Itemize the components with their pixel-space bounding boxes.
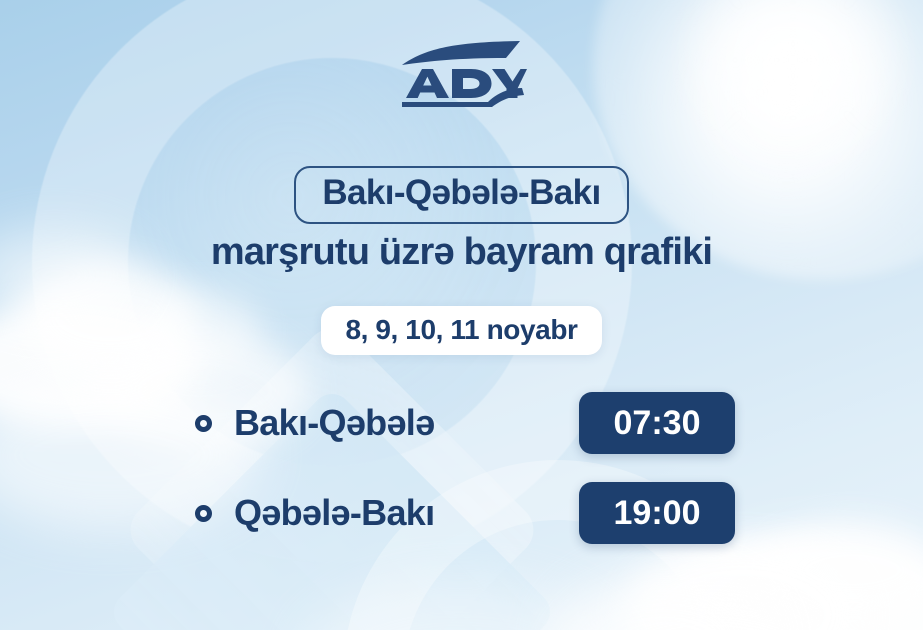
poster-content: Bakı-Qəbələ-Bakı marşrutu üzrə bayram qr… (0, 0, 923, 630)
page-subtitle: marşrutu üzrə bayram qrafiki (0, 231, 923, 274)
schedule-route-label: Bakı-Qəbələ (234, 402, 579, 444)
schedule-route-label: Qəbələ-Bakı (234, 492, 579, 534)
route-title-pill: Bakı-Qəbələ-Bakı (294, 166, 628, 224)
ady-logo (396, 36, 528, 112)
ring-bullet-icon (195, 415, 212, 432)
schedule-time-badge: 07:30 (579, 392, 735, 454)
schedule-time-badge: 19:00 (579, 482, 735, 544)
poster-canvas: Bakı-Qəbələ-Bakı marşrutu üzrə bayram qr… (0, 0, 923, 630)
dates-badge: 8, 9, 10, 11 noyabr (321, 306, 601, 355)
title-block: Bakı-Qəbələ-Bakı marşrutu üzrə bayram qr… (0, 166, 923, 273)
date-block: 8, 9, 10, 11 noyabr (0, 306, 923, 355)
schedule-list: Bakı-Qəbələ 07:30 Qəbələ-Bakı 19:00 (195, 392, 735, 572)
schedule-row: Qəbələ-Bakı 19:00 (195, 482, 735, 544)
schedule-row: Bakı-Qəbələ 07:30 (195, 392, 735, 454)
ring-bullet-icon (195, 505, 212, 522)
